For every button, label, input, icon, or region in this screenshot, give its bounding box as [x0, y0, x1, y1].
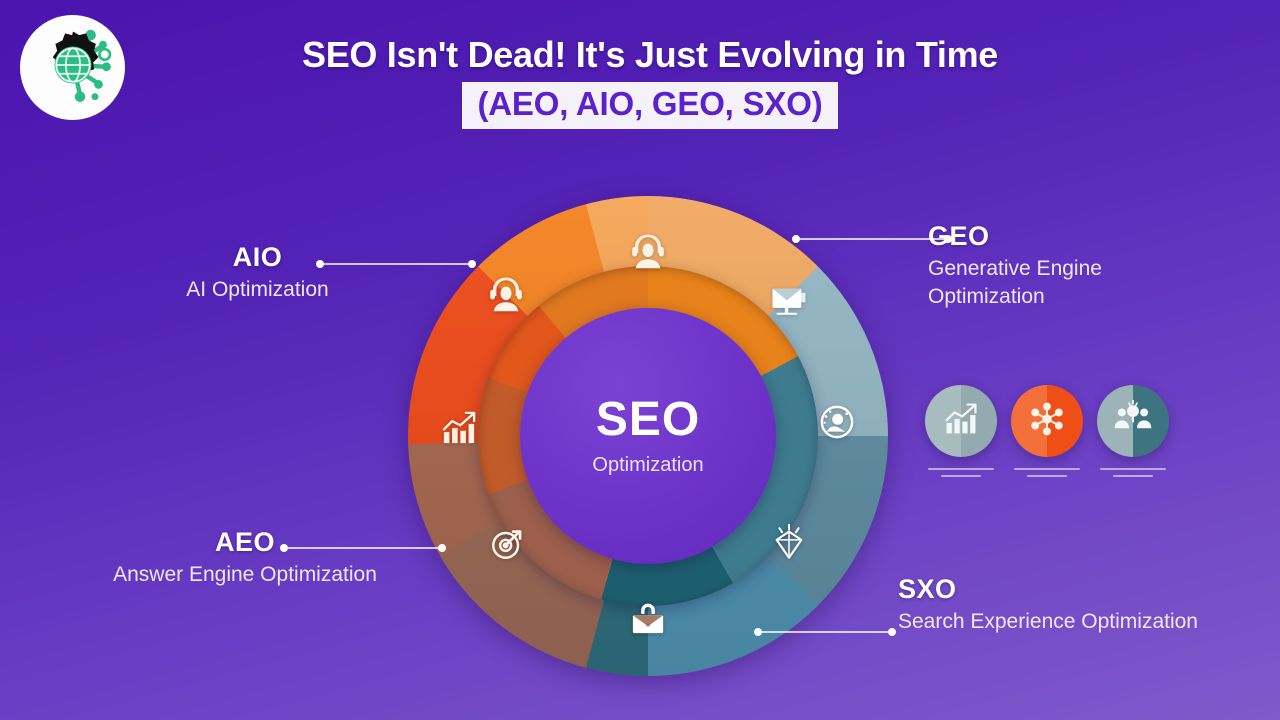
label-aeo: AEO Answer Engine Optimization	[105, 528, 385, 589]
label-sxo-code: SXO	[898, 575, 1198, 605]
badge-growth	[925, 385, 997, 457]
connector-aeo	[280, 542, 446, 554]
network-nodes-icon	[1026, 398, 1068, 445]
connector-line	[762, 631, 888, 633]
center-title: SEO	[596, 396, 700, 444]
label-aio-desc: AI Optimization	[120, 276, 395, 304]
connector-geo	[792, 233, 952, 245]
label-sxo-desc: Search Experience Optimization	[898, 608, 1198, 636]
connector-dot	[888, 628, 896, 636]
gear-globe-network-icon	[29, 21, 117, 114]
badge-underline	[925, 463, 997, 477]
connector-dot	[792, 235, 800, 243]
brand-logo	[20, 15, 125, 120]
connector-dot	[754, 628, 762, 636]
headset-support-icon	[482, 270, 530, 318]
badge-teamwork	[1097, 385, 1169, 457]
donut-center-hub: SEO Optimization	[520, 308, 776, 564]
growth-chart-icon	[435, 404, 483, 452]
mail-lock-icon	[624, 594, 672, 642]
search-globe-icon	[813, 398, 861, 446]
connector-line	[800, 238, 944, 240]
page-title: SEO Isn't Dead! It's Just Evolving in Ti…	[150, 34, 1150, 76]
title-block: SEO Isn't Dead! It's Just Evolving in Ti…	[150, 34, 1150, 129]
infographic-canvas: SEO Isn't Dead! It's Just Evolving in Ti…	[0, 0, 1280, 720]
connector-sxo	[754, 626, 896, 638]
connector-dot	[944, 235, 952, 243]
connector-line	[288, 547, 438, 549]
seo-donut-chart: SEO Optimization	[408, 196, 888, 676]
target-goal-icon	[483, 520, 531, 568]
teamwork-idea-icon	[1112, 398, 1154, 445]
connector-dot	[280, 544, 288, 552]
label-geo: GEO Generative Engine Optimization	[928, 222, 1198, 311]
label-sxo: SXO Search Experience Optimization	[898, 575, 1198, 636]
connector-dot	[468, 260, 476, 268]
label-aio: AIO AI Optimization	[120, 243, 395, 304]
center-subtitle: Optimization	[592, 454, 703, 477]
growth-chart-icon	[940, 398, 982, 445]
connector-dot	[316, 260, 324, 268]
email-envelope-icon	[765, 277, 813, 325]
connector-dot	[438, 544, 446, 552]
label-geo-code: GEO	[928, 222, 1198, 252]
feature-badges	[925, 385, 1190, 485]
badge-underline	[1011, 463, 1083, 477]
subtitle-badge: (AEO, AIO, GEO, SXO)	[462, 82, 839, 129]
label-geo-desc: Generative Engine Optimization	[928, 255, 1198, 311]
gem-diamond-icon	[765, 520, 813, 568]
connector-line	[324, 263, 468, 265]
badge-underline	[1097, 463, 1169, 477]
connector-aio	[316, 258, 476, 270]
headset-support-icon	[624, 227, 672, 275]
label-aeo-desc: Answer Engine Optimization	[105, 561, 385, 589]
badge-network	[1011, 385, 1083, 457]
subtitle-wrap: (AEO, AIO, GEO, SXO)	[150, 82, 1150, 129]
